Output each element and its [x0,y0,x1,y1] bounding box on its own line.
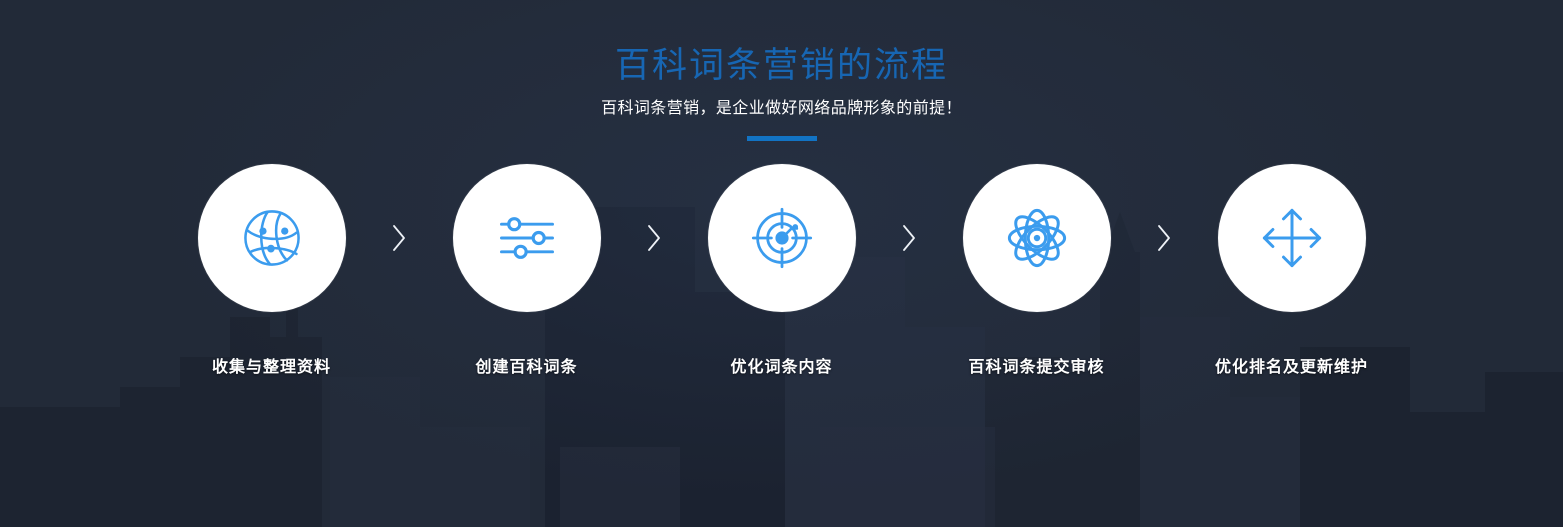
step-label: 创建百科词条 [475,353,577,377]
globe-network-icon [238,204,306,272]
step-icon-bubble[interactable] [198,164,346,312]
process-step-3[interactable]: 优化词条内容 [708,164,856,377]
step-icon-bubble[interactable] [963,164,1111,312]
step-separator-chevron-icon [856,164,963,312]
step-label: 优化词条内容 [730,353,832,377]
sliders-icon [493,204,561,272]
target-crosshair-icon [748,204,816,272]
page-title: 百科词条营销的流程 [0,44,1563,88]
step-label: 优化排名及更新维护 [1215,353,1368,377]
move-arrows-icon [1258,204,1326,272]
step-separator-chevron-icon [346,164,453,312]
step-separator-chevron-icon [1111,164,1218,312]
section-header: 百科词条营销的流程 百科词条营销，是企业做好网络品牌形象的前提！ [0,0,1563,141]
step-icon-bubble[interactable] [453,164,601,312]
step-icon-bubble[interactable] [1218,164,1366,312]
step-label: 收集与整理资料 [212,353,331,377]
process-step-4[interactable]: 百科词条提交审核 [963,164,1111,377]
step-separator-chevron-icon [601,164,708,312]
process-steps-list: 收集与整理资料 [0,164,1563,377]
step-label: 百科词条提交审核 [968,353,1104,377]
process-step-2[interactable]: 创建百科词条 [453,164,601,377]
process-section: 百科词条营销的流程 百科词条营销，是企业做好网络品牌形象的前提！ [0,0,1563,527]
title-underline-divider [747,136,817,141]
process-step-1[interactable]: 收集与整理资料 [198,164,346,377]
section-subtitle: 百科词条营销，是企业做好网络品牌形象的前提！ [0,98,1563,120]
step-icon-bubble[interactable] [708,164,856,312]
process-step-5[interactable]: 优化排名及更新维护 [1218,164,1366,377]
atom-icon [1003,204,1071,272]
